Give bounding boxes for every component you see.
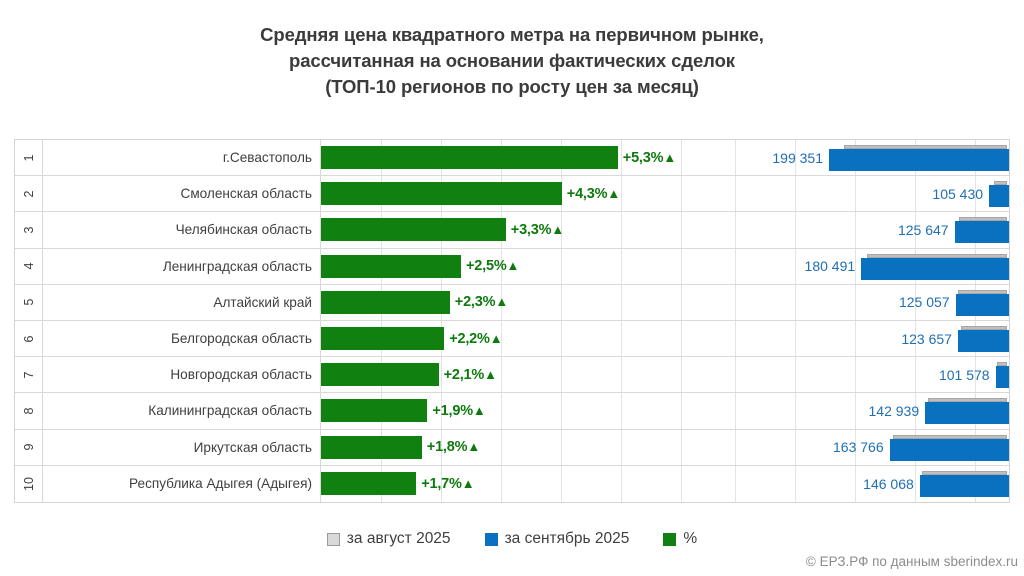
- percent-bar-cell: +2,5%▲: [321, 249, 725, 284]
- percent-bar-cell: +5,3%▲: [321, 140, 725, 175]
- gridline: [735, 140, 736, 175]
- up-triangle-icon: ▲: [462, 476, 475, 491]
- gridline: [795, 212, 796, 247]
- gridline: [915, 176, 916, 211]
- percent-bar: [321, 291, 450, 314]
- value-bar-cell: 125 057: [725, 285, 1009, 320]
- row-region-label: Республика Адыгея (Адыгея): [43, 466, 321, 502]
- gridline: [621, 357, 622, 392]
- gridline: [795, 430, 796, 465]
- up-triangle-icon: ▲: [467, 439, 480, 454]
- september-bar: [861, 258, 1009, 280]
- value-bar-label: 101 578: [939, 367, 996, 383]
- row-rank-3: 3: [15, 212, 43, 247]
- gridline: [915, 357, 916, 392]
- gridline: [855, 212, 856, 247]
- value-bar-cell: 146 068: [725, 466, 1009, 502]
- row-rank-4: 4: [15, 249, 43, 284]
- row-rank-label: 3: [22, 226, 36, 233]
- legend-label-september: за сентябрь 2025: [505, 530, 630, 548]
- gridline: [681, 321, 682, 356]
- chart-title-line-1: Средняя цена квадратного метра на первич…: [0, 22, 1024, 48]
- percent-bar-label: +1,8%▲: [422, 439, 480, 455]
- percent-bar-cell: +1,8%▲: [321, 430, 725, 465]
- percent-bar: [321, 399, 427, 422]
- value-bar-group: [890, 430, 1009, 465]
- gridline: [681, 430, 682, 465]
- value-bar-label: 105 430: [932, 186, 989, 202]
- chart-title-line-2: рассчитанная на основании фактических сд…: [0, 48, 1024, 74]
- percent-bar-label: +2,1%▲: [439, 367, 497, 383]
- legend-item-september[interactable]: за сентябрь 2025: [485, 530, 630, 548]
- row-rank-7: 7: [15, 357, 43, 392]
- gridline: [735, 285, 736, 320]
- value-bar-label: 125 057: [899, 294, 956, 310]
- row-rank-label: 2: [22, 190, 36, 197]
- row-rank-5: 5: [15, 285, 43, 320]
- value-bar-cell: 163 766: [725, 430, 1009, 465]
- chart-row: 10Республика Адыгея (Адыгея)+1,7%▲146 06…: [15, 466, 1009, 502]
- percent-bar: [321, 327, 444, 350]
- percent-bar-cell: +2,1%▲: [321, 357, 725, 392]
- gridline: [681, 176, 682, 211]
- up-triangle-icon: ▲: [495, 294, 508, 309]
- row-region-label: Алтайский край: [43, 285, 321, 320]
- september-bar: [958, 330, 1009, 352]
- gridline: [501, 466, 502, 502]
- gridline: [681, 212, 682, 247]
- gridline: [795, 393, 796, 428]
- row-region-label: Белгородская область: [43, 321, 321, 356]
- chart-row: 9Иркутская область+1,8%▲163 766: [15, 430, 1009, 466]
- value-bar-cell: 101 578: [725, 357, 1009, 392]
- row-rank-label: 7: [22, 371, 36, 378]
- percent-bar-cell: +4,3%▲: [321, 176, 725, 211]
- gridline: [621, 430, 622, 465]
- value-bar-group: [861, 249, 1009, 284]
- row-rank-6: 6: [15, 321, 43, 356]
- value-bar-cell: 180 491: [725, 249, 1009, 284]
- gridline: [561, 249, 562, 284]
- gridline: [681, 140, 682, 175]
- up-triangle-icon: ▲: [663, 150, 676, 165]
- up-triangle-icon: ▲: [607, 186, 620, 201]
- percent-bar-label: +4,3%▲: [562, 186, 620, 202]
- value-bar-group: [829, 140, 1009, 175]
- percent-bar-label: +2,2%▲: [444, 331, 502, 347]
- gridline: [795, 176, 796, 211]
- row-rank-10: 10: [15, 466, 43, 502]
- value-bar-label: 123 657: [901, 331, 958, 347]
- legend-label-percent: %: [683, 530, 697, 548]
- chart-title-line-3: (ТОП-10 регионов по росту цен за месяц): [0, 74, 1024, 100]
- percent-bar-label: +2,5%▲: [461, 258, 519, 274]
- percent-bar-label: +1,9%▲: [427, 403, 485, 419]
- gridline: [855, 393, 856, 428]
- percent-bar-label: +3,3%▲: [506, 222, 564, 238]
- value-bar-cell: 123 657: [725, 321, 1009, 356]
- chart-row: 2Смоленская область+4,3%▲105 430: [15, 176, 1009, 212]
- gridline: [621, 212, 622, 247]
- percent-bar-label: +2,3%▲: [450, 294, 508, 310]
- gridline: [795, 357, 796, 392]
- up-triangle-icon: ▲: [490, 331, 503, 346]
- up-triangle-icon: ▲: [484, 367, 497, 382]
- up-triangle-icon: ▲: [507, 258, 520, 273]
- row-region-label: Челябинская область: [43, 212, 321, 247]
- percent-bar-cell: +3,3%▲: [321, 212, 725, 247]
- value-bar-cell: 199 351: [725, 140, 1009, 175]
- gridline: [795, 249, 796, 284]
- row-region-label: Ленинградская область: [43, 249, 321, 284]
- row-rank-label: 4: [22, 263, 36, 270]
- value-bar-group: [989, 176, 1009, 211]
- row-rank-label: 5: [22, 299, 36, 306]
- chart-row: 5Алтайский край+2,3%▲125 057: [15, 285, 1009, 321]
- chart-plot-area: 1г.Севастополь+5,3%▲199 3512Смоленская о…: [14, 139, 1010, 503]
- row-rank-label: 1: [22, 154, 36, 161]
- legend-swatch-gray-icon: [327, 533, 340, 546]
- chart-title: Средняя цена квадратного метра на первич…: [0, 22, 1024, 100]
- gridline: [735, 466, 736, 502]
- september-bar: [989, 185, 1009, 207]
- gridline: [621, 285, 622, 320]
- value-bar-group: [956, 285, 1009, 320]
- gridline: [855, 321, 856, 356]
- value-bar-group: [996, 357, 1009, 392]
- percent-bar: [321, 363, 439, 386]
- chart-row: 4Ленинградская область+2,5%▲180 491: [15, 249, 1009, 285]
- gridline: [561, 393, 562, 428]
- gridline: [735, 357, 736, 392]
- chart-row: 7Новгородская область+2,1%▲101 578: [15, 357, 1009, 393]
- row-rank-2: 2: [15, 176, 43, 211]
- value-bar-group: [958, 321, 1009, 356]
- percent-bar-cell: +1,7%▲: [321, 466, 725, 502]
- gridline: [855, 357, 856, 392]
- row-region-label: Новгородская область: [43, 357, 321, 392]
- gridline: [621, 466, 622, 502]
- chart-row: 1г.Севастополь+5,3%▲199 351: [15, 140, 1009, 176]
- value-bar-cell: 142 939: [725, 393, 1009, 428]
- gridline: [735, 176, 736, 211]
- september-bar: [925, 402, 1009, 424]
- value-bar-label: 199 351: [772, 150, 829, 166]
- value-bar-label: 142 939: [869, 403, 926, 419]
- gridline: [561, 430, 562, 465]
- gridline: [795, 285, 796, 320]
- gridline: [855, 285, 856, 320]
- percent-bar: [321, 182, 562, 205]
- legend-item-august[interactable]: за август 2025: [327, 530, 451, 548]
- gridline: [621, 249, 622, 284]
- row-region-label: Иркутская область: [43, 430, 321, 465]
- gridline: [795, 466, 796, 502]
- gridline: [681, 357, 682, 392]
- gridline: [681, 466, 682, 502]
- september-bar: [956, 294, 1009, 316]
- legend-swatch-blue-icon: [485, 533, 498, 546]
- footer-credit: © ЕРЗ.РФ по данным sberindex.ru: [806, 554, 1018, 569]
- gridline: [561, 285, 562, 320]
- gridline: [681, 285, 682, 320]
- gridline: [735, 249, 736, 284]
- gridline: [501, 430, 502, 465]
- gridline: [621, 321, 622, 356]
- chart-canvas: Средняя цена квадратного метра на первич…: [0, 0, 1024, 576]
- row-rank-label: 8: [22, 407, 36, 414]
- value-bar-group: [925, 393, 1009, 428]
- gridline: [735, 430, 736, 465]
- value-bar-cell: 105 430: [725, 176, 1009, 211]
- row-region-label: Смоленская область: [43, 176, 321, 211]
- gridline: [855, 466, 856, 502]
- gridline: [855, 176, 856, 211]
- gridline: [561, 357, 562, 392]
- chart-row: 8Калининградская область+1,9%▲142 939: [15, 393, 1009, 429]
- value-bar-label: 146 068: [863, 476, 920, 492]
- percent-bar-cell: +2,2%▲: [321, 321, 725, 356]
- gridline: [561, 321, 562, 356]
- legend-label-august: за август 2025: [347, 530, 451, 548]
- row-region-label: г.Севастополь: [43, 140, 321, 175]
- row-rank-label: 6: [22, 335, 36, 342]
- percent-bar: [321, 255, 461, 278]
- value-bar-cell: 125 647: [725, 212, 1009, 247]
- value-bar-group: [920, 466, 1009, 502]
- september-bar: [890, 439, 1009, 461]
- row-rank-1: 1: [15, 140, 43, 175]
- gridline: [621, 176, 622, 211]
- up-triangle-icon: ▲: [473, 403, 486, 418]
- row-rank-label: 10: [22, 477, 36, 491]
- percent-bar: [321, 218, 506, 241]
- gridline: [681, 393, 682, 428]
- value-bar-label: 163 766: [833, 439, 890, 455]
- percent-bar: [321, 436, 422, 459]
- gridline: [561, 466, 562, 502]
- percent-bar-label: +1,7%▲: [416, 476, 474, 492]
- percent-bar: [321, 472, 416, 495]
- gridline: [621, 393, 622, 428]
- percent-bar: [321, 146, 618, 169]
- gridline: [735, 212, 736, 247]
- september-bar: [955, 221, 1009, 243]
- percent-bar-label: +5,3%▲: [618, 150, 676, 166]
- gridline: [795, 321, 796, 356]
- legend-item-percent[interactable]: %: [663, 530, 697, 548]
- percent-bar-cell: +1,9%▲: [321, 393, 725, 428]
- value-bar-label: 125 647: [898, 222, 955, 238]
- september-bar: [996, 366, 1009, 388]
- september-bar: [920, 475, 1009, 497]
- gridline: [735, 393, 736, 428]
- legend-swatch-green-icon: [663, 533, 676, 546]
- up-triangle-icon: ▲: [551, 222, 564, 237]
- chart-row: 3Челябинская область+3,3%▲125 647: [15, 212, 1009, 248]
- row-region-label: Калининградская область: [43, 393, 321, 428]
- row-rank-9: 9: [15, 430, 43, 465]
- gridline: [501, 357, 502, 392]
- value-bar-group: [955, 212, 1009, 247]
- gridline: [681, 249, 682, 284]
- gridline: [501, 393, 502, 428]
- row-rank-label: 9: [22, 444, 36, 451]
- value-bar-label: 180 491: [805, 258, 862, 274]
- row-rank-8: 8: [15, 393, 43, 428]
- chart-row: 6Белгородская область+2,2%▲123 657: [15, 321, 1009, 357]
- september-bar: [829, 149, 1009, 171]
- gridline: [735, 321, 736, 356]
- percent-bar-cell: +2,3%▲: [321, 285, 725, 320]
- chart-legend: за август 2025 за сентябрь 2025 %: [0, 530, 1024, 548]
